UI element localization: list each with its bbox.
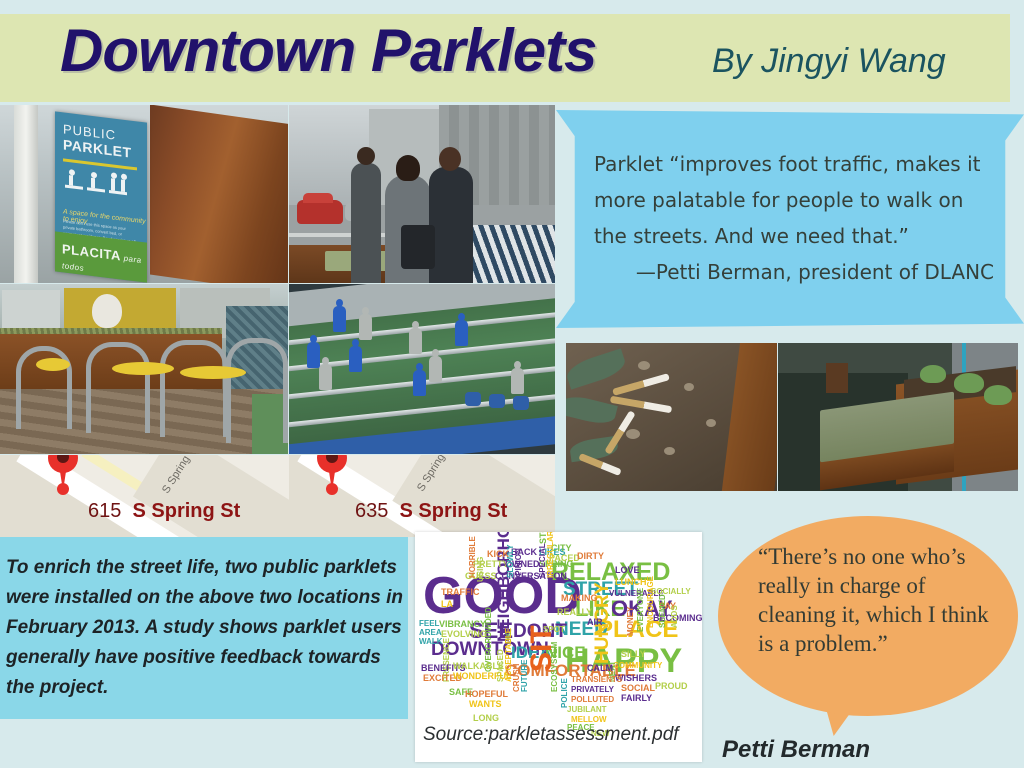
gravel-4 [664, 447, 675, 455]
cigarette-scene [566, 343, 777, 491]
word-cloud-word: COMMUNITY [613, 662, 662, 670]
summary-box: To enrich the street life, two public pa… [0, 537, 408, 719]
gravel-2 [684, 383, 694, 391]
word-cloud-word: HOPEFUL [465, 690, 508, 699]
bench-scene [778, 343, 1018, 491]
sign-line-2: PARKLET [63, 136, 132, 160]
quote-attribution: —Petti Berman, president of DLANC [594, 254, 998, 290]
photo-public-parklet-sign: PUBLIC PARKLET A space for the commu [0, 105, 288, 283]
map-address-number-615: 615 [88, 500, 121, 522]
photo-people-in-parklet [289, 105, 555, 283]
word-cloud-word: VIBRANCY [439, 620, 486, 629]
map-635-s-spring-st[interactable]: S Spring St 635 S Spring St [289, 455, 555, 537]
word-cloud-word: TRAFFIC [441, 588, 480, 597]
word-cloud-word: ADDS [671, 605, 679, 628]
shoulder-bag [401, 225, 435, 269]
foosball-scene [289, 284, 555, 454]
foosball-handle-2 [489, 394, 505, 408]
word-cloud-word: OPINION [515, 548, 523, 582]
foosball-player-blue-5 [413, 370, 426, 396]
map-strip: S Spring St 615 S Spring St S Spring St [0, 455, 555, 537]
planter-plant-1 [920, 365, 946, 383]
foosball-player-gray-1 [359, 314, 372, 340]
word-cloud-word: LA [441, 600, 453, 609]
speech-bubble: “There’s no one who’s really in charge o… [718, 516, 1018, 716]
word-cloud-word: FAIRLY [621, 694, 652, 703]
word-cloud-word: WONDERFUL [453, 672, 512, 681]
byline: By Jingyi Wang [712, 42, 946, 81]
bike-rack-scene [0, 284, 288, 454]
word-cloud-word: EVOLVING [441, 630, 487, 639]
speech-bubble-speaker: Petti Berman [722, 736, 870, 764]
foosball-player-gray-5 [511, 368, 524, 394]
word-cloud-word: AIR [587, 618, 603, 627]
sign-pictograms [63, 168, 139, 207]
word-cloud-word: POLICE [561, 678, 569, 708]
word-cloud-word: LOVE [615, 566, 640, 575]
gravel-3 [626, 429, 640, 439]
word-cloud-word: JUBILANT [567, 706, 607, 714]
map-address-street-635: S Spring St [400, 500, 508, 522]
cafe-chair [826, 363, 848, 393]
word-cloud-word: POLLUTED [571, 696, 614, 704]
sign-brand-sub: para todos [62, 253, 142, 272]
word-cloud: GOODRELAXEDHAPPYLIKEOKAYPLACESTREETNEEDD… [415, 532, 702, 732]
word-cloud-word: WANTS [469, 700, 502, 709]
word-cloud-word: FEEL [419, 620, 439, 628]
sign-panel: PUBLIC PARKLET A space for the commu [55, 111, 147, 282]
word-cloud-word: PRIVATELY [571, 686, 614, 694]
map-address-number-635: 635 [355, 500, 388, 522]
parklet-railing [467, 225, 555, 283]
sign-wood-wall [150, 105, 288, 283]
pin-anchor-dot [57, 483, 69, 495]
quote-text: Parklet “improves foot traffic, makes it… [594, 152, 980, 248]
person-standing-back [351, 163, 381, 283]
foosball-player-blue-2 [455, 320, 468, 346]
gravel-5 [706, 419, 716, 427]
map-615-s-spring-st[interactable]: S Spring St 615 S Spring St [0, 455, 289, 537]
word-cloud-card: GOODRELAXEDHAPPYLIKEOKAYPLACESTREETNEEDD… [415, 532, 702, 762]
foosball-player-gray-3 [319, 364, 332, 390]
word-cloud-word: WALKABLE [453, 662, 504, 671]
red-car [297, 200, 343, 224]
word-cloud-source: Source:parkletassessment.pdf [423, 724, 698, 746]
speech-bubble-quote: “There’s no one who’s really in charge o… [758, 542, 1008, 658]
word-cloud-word: LONG [473, 714, 499, 723]
pin-anchor-dot [326, 483, 338, 495]
word-cloud-word: MAKING [561, 594, 598, 603]
word-cloud-word: LUNCH [615, 578, 647, 587]
yellow-strap-3 [180, 366, 246, 379]
photo-foosball-table [289, 284, 555, 454]
bike-rack-2 [86, 342, 150, 433]
word-cloud-word: DIRTY [577, 552, 604, 561]
word-cloud-word: ENCOURAGE [647, 576, 655, 628]
word-cloud-word: SEEMED [659, 594, 667, 628]
page-title: Downtown Parklets [60, 16, 596, 85]
sign-post [14, 105, 38, 283]
foosball-handle-3 [513, 396, 529, 410]
foosball-player-gray-2 [409, 328, 422, 354]
word-cloud-word: USING [477, 557, 485, 582]
word-cloud-word: WALK [419, 638, 443, 646]
foosball-player-gray-4 [429, 356, 442, 382]
word-cloud-word: SPOT [543, 626, 565, 634]
word-cloud-word: MONEY [627, 607, 635, 636]
foosball-player-blue-1 [333, 306, 346, 332]
word-cloud-word: SOCIAL [621, 684, 655, 693]
word-cloud-word: EVERYONE [637, 588, 645, 632]
photo-bench-and-planters [778, 343, 1018, 491]
map-address-615: 615 S Spring St [88, 500, 240, 523]
word-cloud-word: SILLY [621, 650, 646, 659]
people-scene [289, 105, 555, 283]
gravel-1 [638, 361, 650, 370]
word-cloud-word: IRREGULAR [547, 532, 555, 578]
poster-canvas: Downtown Parklets By Jingyi Wang PUBLIC … [0, 0, 1024, 768]
map-address-635: 635 S Spring St [355, 500, 507, 523]
planter-plant-3 [984, 385, 1012, 405]
word-cloud-word: REALLY [557, 608, 592, 617]
word-cloud-word: SOCIALLY [651, 588, 691, 596]
bike-rack-3 [160, 340, 228, 437]
word-cloud-word: CALM [587, 664, 613, 673]
word-cloud-word: CRUSH [513, 664, 521, 692]
person-with-backpack [429, 167, 473, 283]
quote-text-block: Parklet “improves foot traffic, makes it… [594, 146, 998, 290]
yellow-strap-2 [112, 362, 174, 375]
word-cloud-word: PROUD [655, 682, 688, 691]
photo-bike-racks [0, 284, 288, 454]
planter-plant-2 [954, 373, 984, 393]
quote-banner: Parklet “improves foot traffic, makes it… [556, 110, 1024, 328]
yellow-strap-1 [36, 358, 70, 371]
map-pin-615[interactable] [48, 455, 78, 473]
word-cloud-word: FUTURE [521, 660, 529, 692]
photo-cigarette-butts [566, 343, 777, 491]
bike-rack-4 [226, 338, 288, 443]
word-cloud-word: TRANSIENTS [571, 676, 622, 684]
word-cloud-word: AREA [419, 629, 442, 637]
map-pin-635[interactable] [317, 455, 347, 473]
foosball-player-blue-3 [307, 342, 320, 368]
sign-scene: PUBLIC PARKLET A space for the commu [0, 105, 288, 283]
word-cloud-word: ECOSYSTEM [551, 642, 559, 692]
map-address-street-615: S Spring St [133, 500, 241, 522]
foosball-handle-1 [465, 392, 481, 406]
foosball-player-blue-4 [349, 346, 362, 372]
summary-text: To enrich the street life, two public pa… [6, 553, 406, 703]
